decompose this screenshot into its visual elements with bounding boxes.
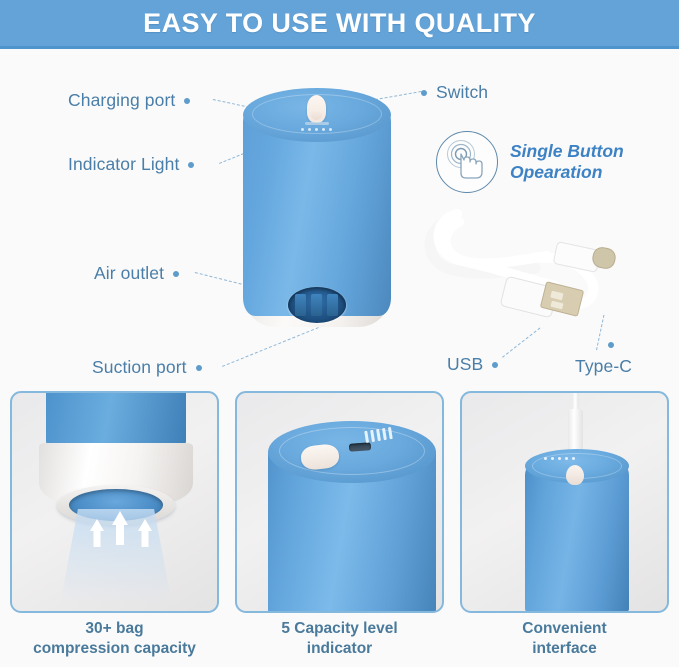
banner-title: EASY TO USE WITH QUALITY: [143, 8, 536, 39]
indicator-light-dots: [301, 128, 332, 131]
caption-bag-capacity: 30+ bag compression capacity: [10, 619, 219, 659]
callout-dot-icon: [421, 90, 427, 96]
callout-typec: Type-C: [575, 356, 632, 377]
callout-label: Air outlet: [94, 263, 164, 284]
callout-label: Indicator Light: [68, 154, 179, 175]
caption-line-1: 5 Capacity level: [235, 619, 444, 639]
power-button-icon[interactable]: [307, 95, 326, 123]
single-button-operation-badge: Single Button Opearation: [436, 131, 624, 193]
callout-dot-icon: [492, 362, 498, 368]
caption-capacity-indicator: 5 Capacity level indicator: [235, 619, 444, 659]
callout-label: Suction port: [92, 357, 187, 378]
callout-switch: Switch: [421, 82, 488, 103]
callout-suction-port: Suction port: [92, 357, 202, 378]
card3-device-body: [525, 463, 629, 613]
badge-line-1: Single Button: [510, 141, 624, 162]
callout-label: Type-C: [575, 356, 632, 377]
callout-usb: USB: [447, 354, 498, 375]
caption-line-1: Convenient: [460, 619, 669, 639]
single-button-operation-text: Single Button Opearation: [510, 141, 624, 184]
callout-dot-icon: [173, 271, 179, 277]
suction-port-icon: [288, 287, 346, 323]
feature-card-capacity-indicator: [235, 391, 444, 613]
callout-dot-icon: [184, 98, 190, 104]
badge-line-2: Opearation: [510, 162, 624, 183]
callout-label: USB: [447, 354, 483, 375]
callout-indicator-light: Indicator Light: [68, 154, 194, 175]
callout-label: Charging port: [68, 90, 175, 111]
card2-charging-slot-icon: [349, 442, 372, 452]
infographic-page: EASY TO USE WITH QUALITY Charging port I…: [0, 0, 679, 667]
charging-port-slot-icon: [305, 122, 329, 125]
card1-airflow-arrows: [12, 393, 219, 613]
callout-label: Switch: [436, 82, 488, 103]
product-device: [243, 88, 393, 338]
caption-line-2: compression capacity: [10, 639, 219, 659]
usb-type-c-cable: [415, 200, 655, 345]
caption-line-2: indicator: [235, 639, 444, 659]
caption-convenient-interface: Convenient interface: [460, 619, 669, 659]
feature-card-bag-capacity: [10, 391, 219, 613]
tap-hand-icon: [436, 131, 498, 193]
caption-line-1: 30+ bag: [10, 619, 219, 639]
callout-charging-port: Charging port: [68, 90, 190, 111]
callout-dot-icon: [196, 365, 202, 371]
card3-power-button-icon: [566, 465, 584, 485]
callout-dot-icon: [188, 162, 194, 168]
callout-air-outlet: Air outlet: [94, 263, 179, 284]
caption-line-2: interface: [460, 639, 669, 659]
card3-indicator-dots: [544, 457, 575, 460]
header-banner: EASY TO USE WITH QUALITY: [0, 0, 679, 49]
feature-card-convenient-interface: [460, 391, 669, 613]
